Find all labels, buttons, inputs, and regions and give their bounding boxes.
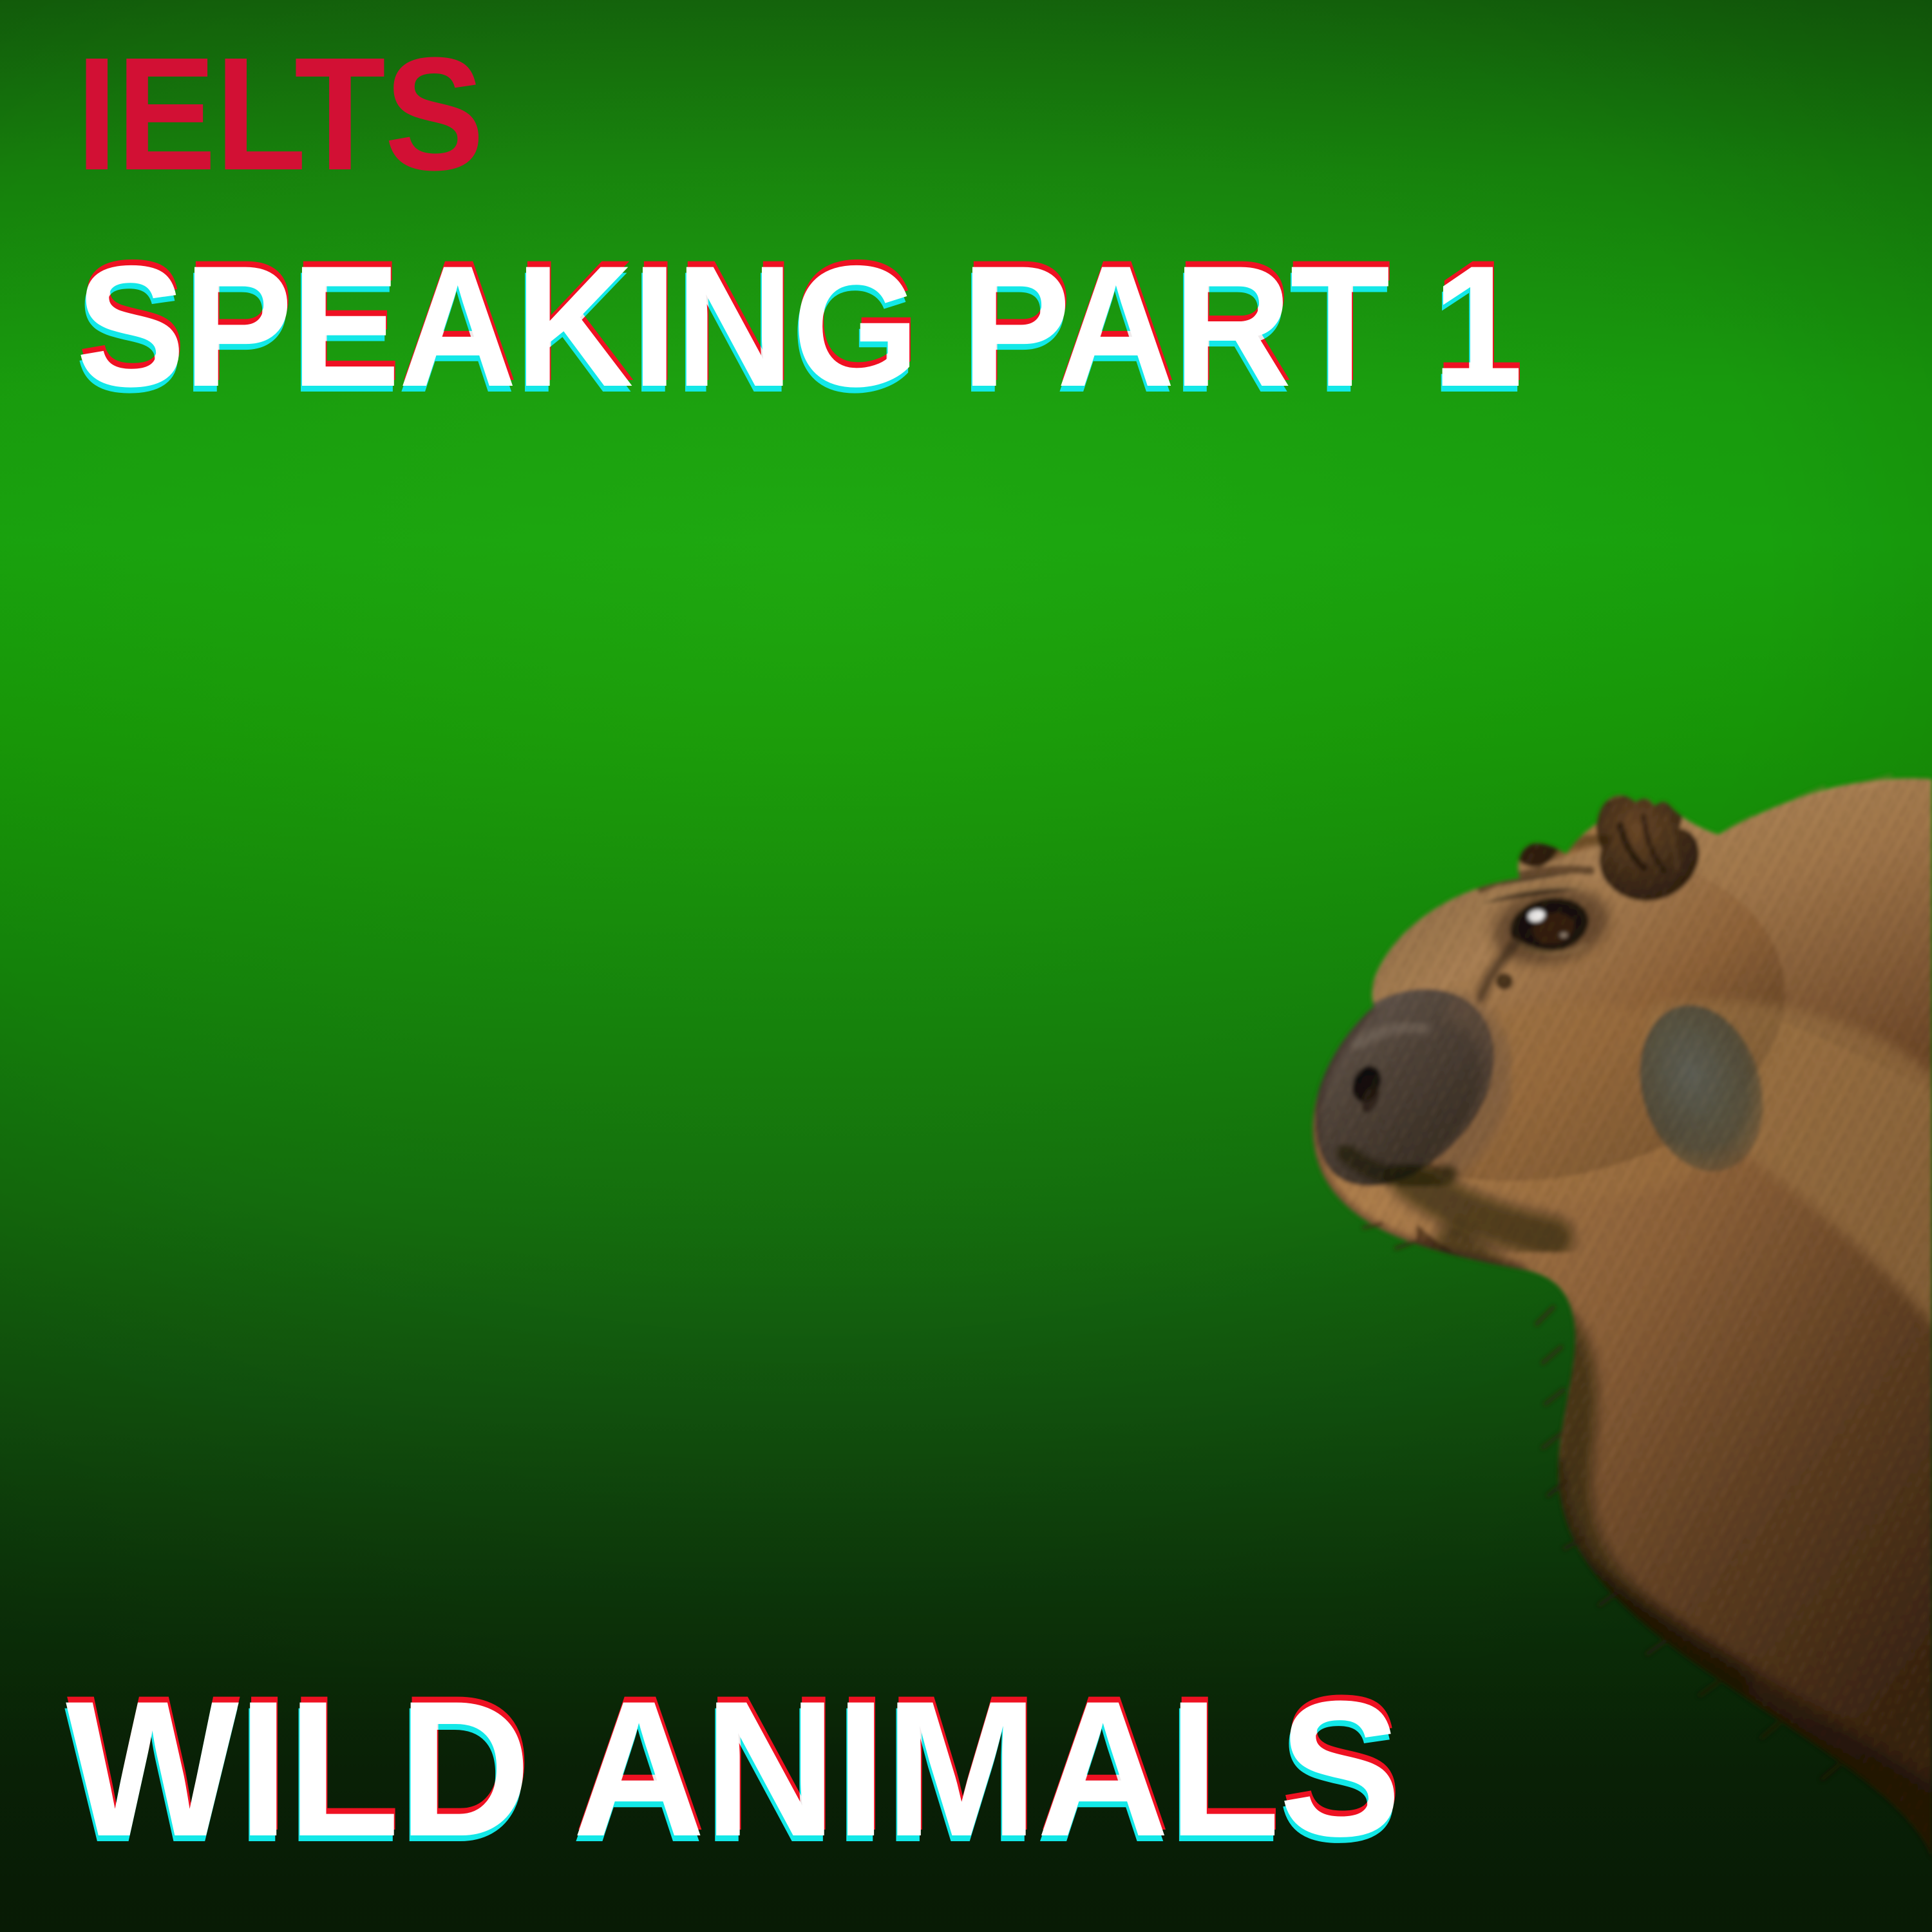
main-title-text: SPEAKING PART 1 xyxy=(76,229,1521,422)
footer-title: WILD ANIMALS WILD ANIMALS WILD ANIMALS xyxy=(66,1672,1400,1865)
footer-title-text: WILD ANIMALS xyxy=(66,1660,1400,1877)
eyebrow-label: IELTS xyxy=(76,33,483,194)
text-overlay: IELTS SPEAKING PART 1 SPEAKING PART 1 SP… xyxy=(0,0,1932,1932)
thumbnail-canvas: IELTS SPEAKING PART 1 SPEAKING PART 1 SP… xyxy=(0,0,1932,1932)
main-title: SPEAKING PART 1 SPEAKING PART 1 SPEAKING… xyxy=(76,240,1521,412)
